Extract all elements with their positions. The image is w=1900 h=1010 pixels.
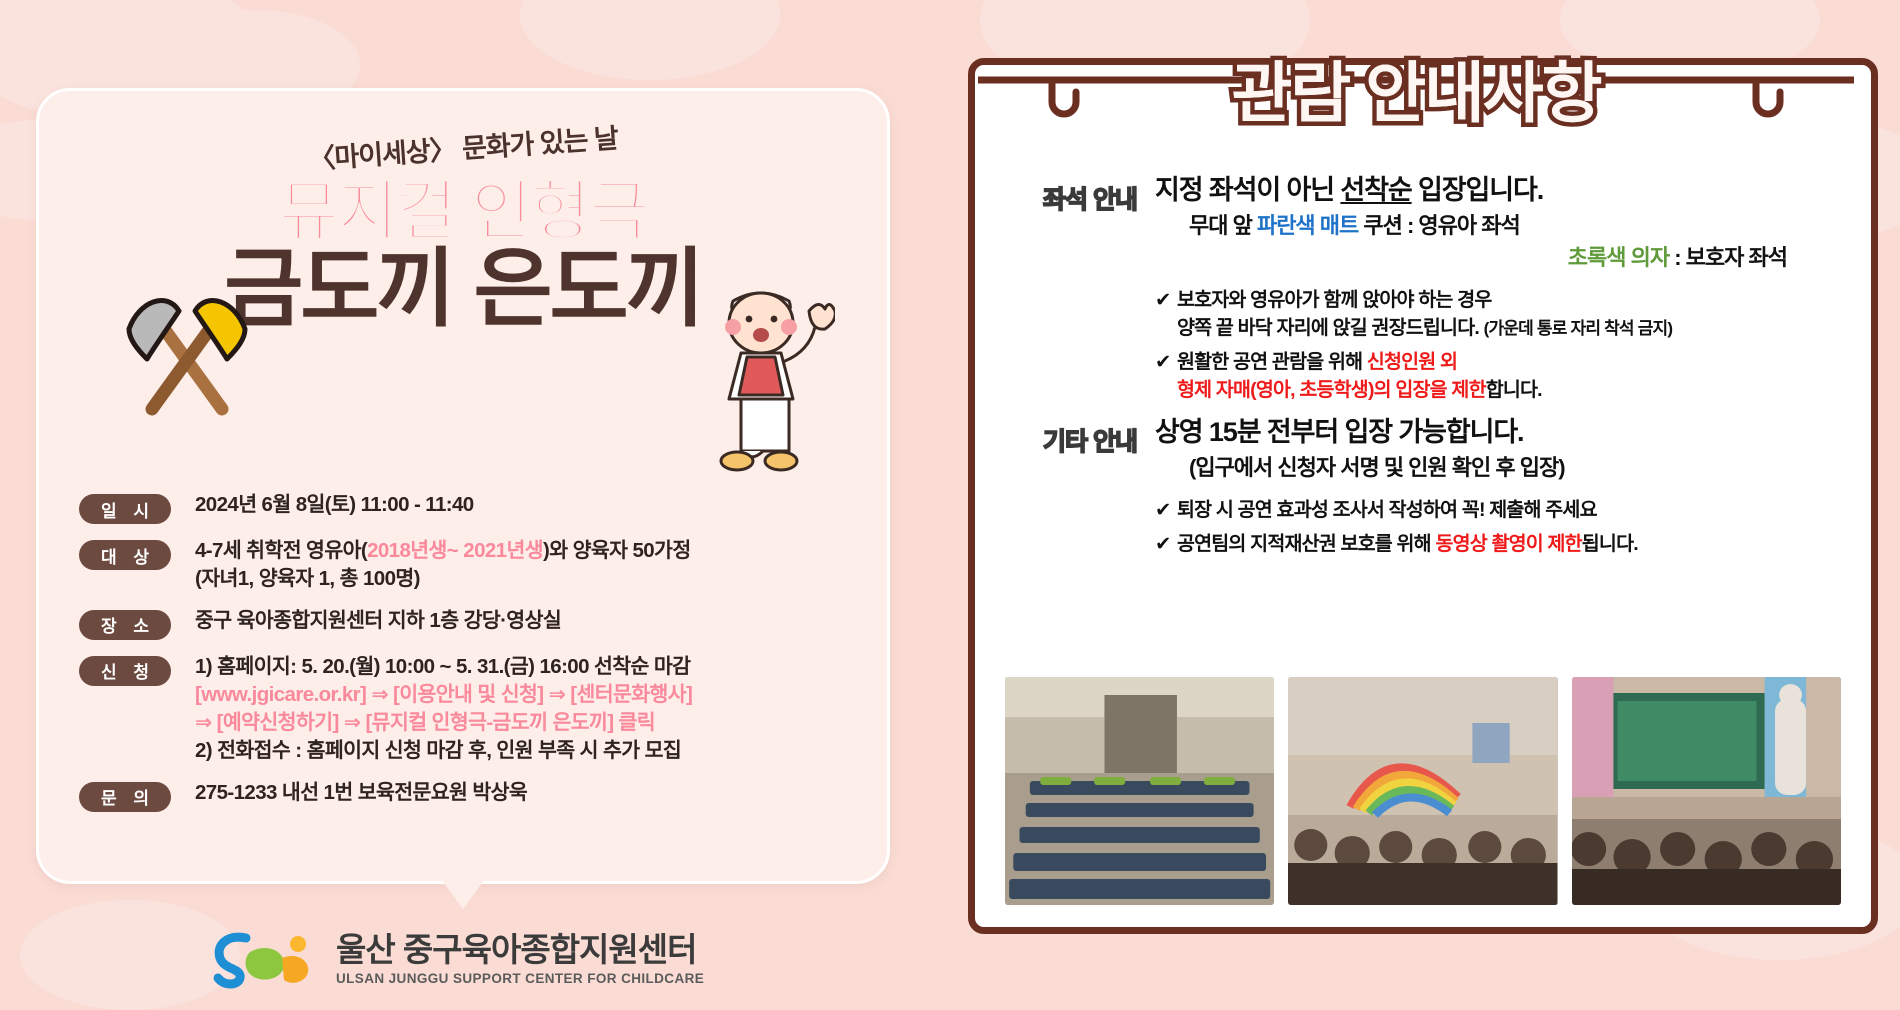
info-row: 대 상4-7세 취학전 영유아(2018년생~ 2021년생)와 양육자 50가… bbox=[79, 537, 859, 594]
info-row: 신 청1) 홈페이지: 5. 20.(월) 10:00 ~ 5. 31.(금) … bbox=[79, 653, 859, 766]
text-run: 형제 자매(영아, 초등학생)의 입장을 제한 bbox=[1177, 379, 1486, 401]
notice-bullet-line: 보호자와 영유아가 함께 앉아야 하는 경우 bbox=[1177, 286, 1841, 314]
check-icon: ✔ bbox=[1155, 286, 1177, 343]
notice-bullet-line: 원활한 공연 관람을 위해 신청인원 외 bbox=[1177, 348, 1841, 376]
text-run: 입장입니다. bbox=[1412, 175, 1544, 205]
info-row: 장 소중구 육아종합지원센터 지하 1층 강당·영상실 bbox=[79, 607, 859, 640]
event-info-card: 〈마이세상〉 문화가 있는 날 뮤지컬 인형극 금도끼 은도끼 bbox=[36, 88, 890, 884]
text-run: 선착순 bbox=[1340, 175, 1411, 205]
info-line: 275-1233 내선 1번 보육전문요원 박상욱 bbox=[195, 779, 527, 807]
text-run: 2) 전화접수 : 홈페이지 신청 마감 후, 인원 부족 시 추가 모집 bbox=[195, 739, 681, 762]
notice-bullet-line: 퇴장 시 공연 효과성 조사서 작성하여 꼭! 제출해 주세요 bbox=[1177, 496, 1841, 524]
text-run: 합니다. bbox=[1486, 379, 1542, 401]
organization-name-en: ULSAN JUNGGU SUPPORT CENTER FOR CHILDCAR… bbox=[336, 971, 704, 986]
organization-name-kr: 울산 중구육아종합지원센터 bbox=[336, 933, 704, 966]
text-run: (입구에서 신청자 서명 및 인원 확인 후 입장) bbox=[1189, 455, 1565, 480]
info-row-label: 일 시 bbox=[79, 494, 171, 524]
notice-bullet-item: ✔보호자와 영유아가 함께 앉아야 하는 경우양쪽 끝 바닥 자리에 앉길 권장… bbox=[1155, 286, 1841, 343]
text-run: 2018년생~ 2021년생 bbox=[367, 539, 543, 562]
text-run: 무대 앞 bbox=[1189, 213, 1257, 238]
background-cloud bbox=[520, 0, 780, 80]
background-cloud bbox=[20, 900, 240, 1010]
info-line: (자녀1, 양육자 1, 총 100명) bbox=[195, 565, 691, 593]
info-row-label: 장 소 bbox=[79, 610, 171, 640]
text-run: 파란색 매트 bbox=[1257, 213, 1358, 238]
text-run: 2024년 6월 8일(토) 11:00 - 11:40 bbox=[195, 493, 474, 516]
info-row-value: 1) 홈페이지: 5. 20.(월) 10:00 ~ 5. 31.(금) 16:… bbox=[195, 653, 692, 766]
info-row-label: 신 청 bbox=[79, 656, 171, 686]
event-info-list: 일 시2024년 6월 8일(토) 11:00 - 11:40대 상4-7세 취… bbox=[79, 491, 859, 825]
notice-bullet-item: ✔원활한 공연 관람을 위해 신청인원 외형제 자매(영아, 초등학생)의 입장… bbox=[1155, 348, 1841, 405]
stage-performance-photo bbox=[1572, 677, 1841, 905]
text-run: 4-7세 취학전 영유아( bbox=[195, 539, 367, 562]
text-run: )와 양육자 50가정 bbox=[543, 539, 691, 562]
poster-title-line1: 뮤지컬 인형극 bbox=[39, 177, 887, 246]
info-row-value: 2024년 6월 8일(토) 11:00 - 11:40 bbox=[195, 491, 474, 519]
notice-section-label: 기타 안내 bbox=[1005, 422, 1155, 458]
info-row-label: 문 의 bbox=[79, 782, 171, 812]
check-icon: ✔ bbox=[1155, 496, 1177, 524]
notice-bullet-item: ✔퇴장 시 공연 효과성 조사서 작성하여 꼭! 제출해 주세요 bbox=[1155, 496, 1841, 524]
text-run: 초록색 의자 bbox=[1568, 245, 1669, 270]
notice-bullet-text: 공연팀의 지적재산권 보호를 위해 동영상 촬영이 제한됩니다. bbox=[1177, 530, 1841, 558]
text-run: 양쪽 끝 바닥 자리에 앉길 권장드립니다. bbox=[1177, 317, 1484, 339]
notice-headline: 지정 좌석이 아닌 선착순 입장입니다. bbox=[1155, 173, 1841, 208]
info-row: 문 의275-1233 내선 1번 보육전문요원 박상욱 bbox=[79, 779, 859, 812]
text-run: (자녀1, 양육자 1, 총 100명) bbox=[195, 567, 420, 590]
text-run: 공연팀의 지적재산권 보호를 위해 bbox=[1177, 533, 1435, 555]
photo-strip bbox=[1005, 677, 1841, 905]
notice-subline: 무대 앞 파란색 매트 쿠션 : 영유아 좌석 bbox=[1155, 211, 1841, 240]
info-line: 4-7세 취학전 영유아(2018년생~ 2021년생)와 양육자 50가정 bbox=[195, 537, 691, 565]
text-run: 1) 홈페이지: 5. 20.(월) 10:00 ~ 5. 31.(금) 16:… bbox=[195, 655, 690, 678]
check-icon: ✔ bbox=[1155, 530, 1177, 558]
info-line: 2) 전화접수 : 홈페이지 신청 마감 후, 인원 부족 시 추가 모집 bbox=[195, 737, 692, 765]
text-run: 됩니다. bbox=[1582, 533, 1638, 555]
notice-section-body: 상영 15분 전부터 입장 가능합니다.(입구에서 신청자 서명 및 인원 확인… bbox=[1155, 415, 1841, 563]
info-line: [www.jgicare.or.kr] ⇒ [이용안내 및 신청] ⇒ [센터문… bbox=[195, 681, 692, 709]
crossed-axes-icon bbox=[117, 281, 257, 421]
audience-balloon-arch-photo bbox=[1288, 677, 1557, 905]
notice-subline: (입구에서 신청자 서명 및 인원 확인 후 입장) bbox=[1155, 453, 1841, 482]
text-run: 쿠션 : 영유아 좌석 bbox=[1358, 213, 1519, 238]
info-line: 중구 육아종합지원센터 지하 1층 강당·영상실 bbox=[195, 607, 561, 635]
notice-bullet-line: 형제 자매(영아, 초등학생)의 입장을 제한합니다. bbox=[1177, 376, 1841, 404]
text-run: : 보호자 좌석 bbox=[1669, 245, 1787, 270]
text-run: ⇒ [예약신청하기] ⇒ [뮤지컬 인형극-금도끼 은도끼] 클릭 bbox=[195, 711, 655, 734]
notice-section-body: 지정 좌석이 아닌 선착순 입장입니다.무대 앞 파란색 매트 쿠션 : 영유아… bbox=[1155, 173, 1841, 409]
info-line: 2024년 6월 8일(토) 11:00 - 11:40 bbox=[195, 491, 474, 519]
info-row: 일 시2024년 6월 8일(토) 11:00 - 11:40 bbox=[79, 491, 859, 524]
notice-title: 관람 안내사항 bbox=[968, 40, 1864, 136]
text-run: 지정 좌석이 아닌 bbox=[1155, 175, 1340, 205]
notice-card: 좌석 안내지정 좌석이 아닌 선착순 입장입니다.무대 앞 파란색 매트 쿠션 … bbox=[968, 58, 1878, 934]
notice-section-label: 좌석 안내 bbox=[1005, 180, 1155, 216]
info-row-value: 4-7세 취학전 영유아(2018년생~ 2021년생)와 양육자 50가정(자… bbox=[195, 537, 691, 594]
sc-swirl-logo-icon bbox=[210, 928, 322, 990]
text-run: 동영상 촬영이 제한 bbox=[1435, 533, 1581, 555]
notice-bullet-text: 원활한 공연 관람을 위해 신청인원 외형제 자매(영아, 초등학생)의 입장을… bbox=[1177, 348, 1841, 405]
notice-headline: 상영 15분 전부터 입장 가능합니다. bbox=[1155, 415, 1841, 450]
notice-sections: 좌석 안내지정 좌석이 아닌 선착순 입장입니다.무대 앞 파란색 매트 쿠션 … bbox=[1005, 173, 1841, 569]
notice-bullet-text: 보호자와 영유아가 함께 앉아야 하는 경우양쪽 끝 바닥 자리에 앉길 권장드… bbox=[1177, 286, 1841, 343]
notice-section: 기타 안내상영 15분 전부터 입장 가능합니다.(입구에서 신청자 서명 및 … bbox=[1005, 415, 1841, 563]
notice-bullet-list: ✔보호자와 영유아가 함께 앉아야 하는 경우양쪽 끝 바닥 자리에 앉길 권장… bbox=[1155, 286, 1841, 404]
notice-section: 좌석 안내지정 좌석이 아닌 선착순 입장입니다.무대 앞 파란색 매트 쿠션 … bbox=[1005, 173, 1841, 409]
organization-footer: 울산 중구육아종합지원센터 ULSAN JUNGGU SUPPORT CENTE… bbox=[210, 928, 704, 990]
info-row-label: 대 상 bbox=[79, 540, 171, 570]
text-run: 퇴장 시 공연 효과성 조사서 작성하여 꼭! 제출해 주세요 bbox=[1177, 499, 1597, 521]
text-run: 275-1233 내선 1번 보육전문요원 박상욱 bbox=[195, 781, 527, 804]
notice-bullet-item: ✔공연팀의 지적재산권 보호를 위해 동영상 촬영이 제한됩니다. bbox=[1155, 530, 1841, 558]
empty-auditorium-photo bbox=[1005, 677, 1274, 905]
notice-bullet-line: 공연팀의 지적재산권 보호를 위해 동영상 촬영이 제한됩니다. bbox=[1177, 530, 1841, 558]
text-run: 상영 15분 전부터 입장 가능합니다. bbox=[1155, 417, 1523, 447]
info-line: ⇒ [예약신청하기] ⇒ [뮤지컬 인형극-금도끼 은도끼] 클릭 bbox=[195, 709, 692, 737]
text-run: (가운데 통로 자리 착석 금지) bbox=[1484, 319, 1673, 338]
notice-bullet-line: 양쪽 끝 바닥 자리에 앉길 권장드립니다. (가운데 통로 자리 착석 금지) bbox=[1177, 314, 1841, 342]
notice-bullet-list: ✔퇴장 시 공연 효과성 조사서 작성하여 꼭! 제출해 주세요✔공연팀의 지적… bbox=[1155, 496, 1841, 558]
woodcutter-character-illustration bbox=[685, 261, 835, 491]
card-pointer bbox=[441, 879, 485, 909]
check-icon: ✔ bbox=[1155, 348, 1177, 405]
text-run: 신청인원 외 bbox=[1367, 351, 1457, 373]
notice-bullet-text: 퇴장 시 공연 효과성 조사서 작성하여 꼭! 제출해 주세요 bbox=[1177, 496, 1841, 524]
info-row-value: 275-1233 내선 1번 보육전문요원 박상욱 bbox=[195, 779, 527, 807]
text-run: 중구 육아종합지원센터 지하 1층 강당·영상실 bbox=[195, 609, 561, 632]
text-run: 원활한 공연 관람을 위해 bbox=[1177, 351, 1367, 373]
text-run: 보호자와 영유아가 함께 앉아야 하는 경우 bbox=[1177, 289, 1491, 311]
info-line: 1) 홈페이지: 5. 20.(월) 10:00 ~ 5. 31.(금) 16:… bbox=[195, 653, 692, 681]
text-run: [www.jgicare.or.kr] ⇒ [이용안내 및 신청] ⇒ [센터문… bbox=[195, 683, 692, 706]
info-row-value: 중구 육아종합지원센터 지하 1층 강당·영상실 bbox=[195, 607, 561, 635]
notice-subline: 초록색 의자 : 보호자 좌석 bbox=[1155, 243, 1841, 272]
